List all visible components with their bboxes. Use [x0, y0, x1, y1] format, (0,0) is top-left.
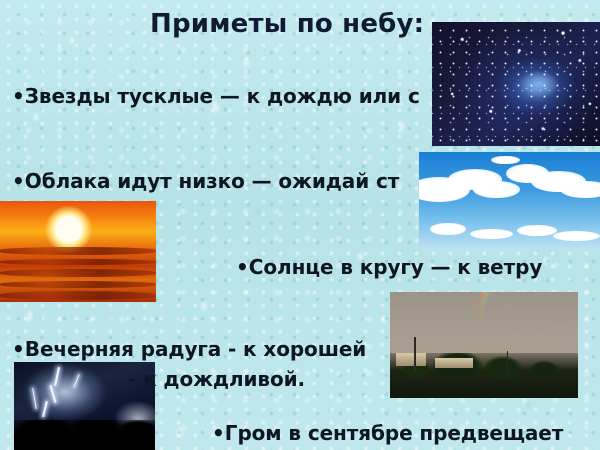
- storm-horizon-silhouette: [14, 420, 155, 450]
- house-shape: [435, 358, 473, 369]
- bullet-item-sun: •Солнце в кругу — к ветру: [236, 255, 542, 279]
- bullet-marker: •: [236, 255, 249, 279]
- bullet-item-rainbow-line2: - к дождливой.: [128, 367, 305, 391]
- sunset-cloud-band: [0, 291, 156, 300]
- sunset-cloud-band: [0, 259, 156, 265]
- house-shape: [396, 353, 426, 366]
- presentation-slide: Приметы по небу: •Звезды тусклые — к дож…: [0, 0, 600, 450]
- lightning-bolt: [42, 401, 47, 417]
- bullet-marker: •: [12, 84, 25, 108]
- sunset-cloud-band: [0, 247, 156, 254]
- bullet-item-clouds: •Облака идут низко — ожидай ст: [12, 169, 399, 193]
- sunset-cloud-band: [0, 281, 156, 288]
- lightning-bolt: [50, 385, 57, 402]
- cloud-shape: [430, 223, 466, 235]
- orange-sunset-photo: [0, 201, 156, 302]
- sunset-cloud-band: [0, 269, 156, 277]
- bullet-marker: •: [12, 169, 25, 193]
- rainbow-landscape-photo: [390, 292, 578, 398]
- cloud-shape: [553, 231, 600, 242]
- star-field-bright: [432, 22, 600, 146]
- utility-pole: [414, 337, 416, 373]
- bullet-text: Звезды тусклые — к дождю или с: [25, 84, 420, 108]
- bullet-text: Солнце в кругу — к ветру: [249, 255, 543, 279]
- bullet-marker: •: [212, 421, 225, 445]
- cloud-shape: [560, 181, 600, 198]
- bullet-text: Облака идут низко — ожидай ст: [25, 169, 399, 193]
- bullet-item-rainbow: •Вечерняя радуга - к хорошей: [12, 337, 366, 361]
- bullet-text: Гром в сентябре предвещает: [225, 421, 563, 445]
- cloud-shape: [517, 225, 557, 237]
- page-title: Приметы по небу:: [150, 9, 424, 39]
- bullet-text: Вечерняя радуга - к хорошей: [25, 337, 366, 361]
- bullet-marker: •: [12, 337, 25, 361]
- lightning-bolt: [54, 367, 60, 386]
- bullet-item-stars: •Звезды тусклые — к дождю или с: [12, 84, 420, 108]
- cloud-shape: [473, 181, 520, 198]
- utility-pole: [507, 351, 509, 374]
- cloud-shape: [470, 229, 513, 240]
- lightning-bolt: [32, 388, 37, 409]
- cloud-shape: [491, 156, 520, 165]
- bullet-item-thunder: •Гром в сентябре предвещает: [212, 421, 563, 445]
- lightning-bolt: [73, 375, 80, 389]
- bullet-text: - к дождливой.: [128, 367, 305, 391]
- blue-sky-clouds-photo: [419, 152, 600, 248]
- starry-night-sky-photo: [432, 22, 600, 146]
